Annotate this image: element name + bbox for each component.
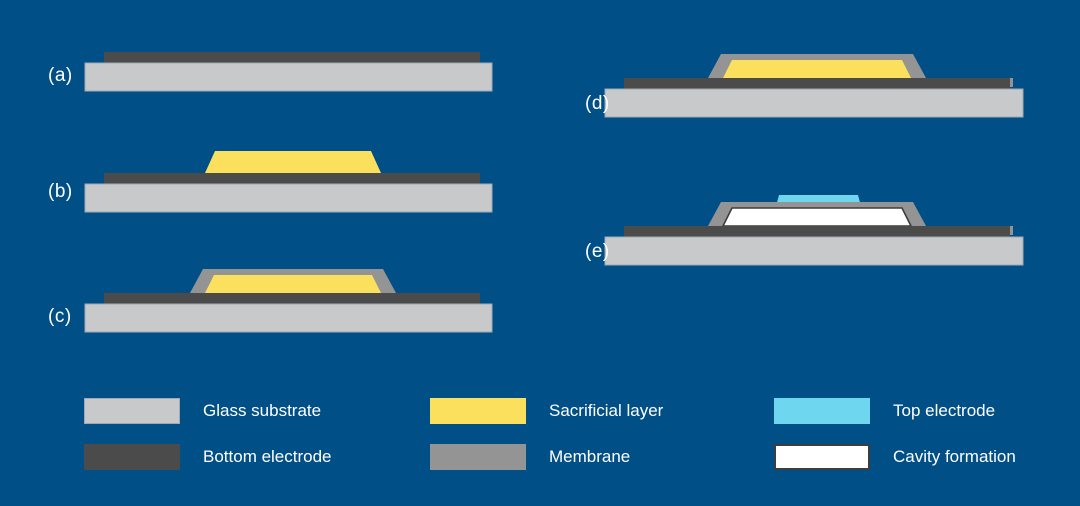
swatch-sacrificial-layer <box>430 398 526 424</box>
panel-label-d: (d) <box>585 93 610 115</box>
layer-bottom-electrode <box>624 226 1010 237</box>
swatch-top-electrode <box>774 398 870 424</box>
swatch-glass-substrate <box>84 398 180 424</box>
panel-label-b: (b) <box>48 181 73 203</box>
layer-glass-substrate <box>605 89 1023 117</box>
layer-bottom-electrode <box>104 52 480 63</box>
legend-label-sacrificial-layer: Sacrificial layer <box>549 401 663 421</box>
panel-c <box>0 262 520 352</box>
swatch-membrane <box>430 444 526 470</box>
panel-a-cross-section <box>0 30 520 110</box>
legend-label-cavity-formation: Cavity formation <box>893 447 1016 467</box>
legend-item-top-electrode: Top electrode <box>774 398 1034 424</box>
legend-item-sacrificial-layer: Sacrificial layer <box>430 398 774 424</box>
layer-cavity <box>723 208 911 226</box>
panel-d <box>540 30 1070 140</box>
layer-bottom-electrode <box>624 78 1010 89</box>
legend-item-glass-substrate: Glass substrate <box>84 398 430 424</box>
legend-item-cavity-formation: Cavity formation <box>774 444 1034 470</box>
panel-d-cross-section <box>540 30 1070 140</box>
layer-sacrificial <box>205 151 381 173</box>
panel-a <box>0 30 520 110</box>
legend-label-top-electrode: Top electrode <box>893 401 995 421</box>
figure-canvas: (a) (b) (c) <box>0 0 1080 506</box>
panel-b-cross-section <box>0 145 520 225</box>
swatch-bottom-electrode <box>84 444 180 470</box>
panel-label-e: (e) <box>585 241 610 263</box>
layer-glass-substrate <box>85 304 492 332</box>
panel-label-c: (c) <box>48 306 72 328</box>
layer-bottom-electrode <box>104 173 480 184</box>
panel-e-cross-section <box>540 180 1070 290</box>
legend-label-glass-substrate: Glass substrate <box>203 401 321 421</box>
panel-c-cross-section <box>0 262 520 352</box>
panel-label-a: (a) <box>48 65 73 87</box>
swatch-cavity-formation <box>774 444 870 470</box>
layer-glass-substrate <box>85 184 492 212</box>
panel-e <box>540 180 1070 290</box>
layer-bottom-electrode <box>104 293 480 304</box>
layer-sacrificial <box>205 275 381 293</box>
layer-sacrificial <box>723 60 911 78</box>
panel-b <box>0 145 520 225</box>
legend-label-bottom-electrode: Bottom electrode <box>203 447 332 467</box>
legend: Glass substrate Sacrificial layer Top el… <box>84 388 1034 480</box>
layer-glass-substrate <box>605 237 1023 265</box>
layer-glass-substrate <box>85 63 492 91</box>
legend-label-membrane: Membrane <box>549 447 630 467</box>
legend-item-bottom-electrode: Bottom electrode <box>84 444 430 470</box>
legend-item-membrane: Membrane <box>430 444 774 470</box>
